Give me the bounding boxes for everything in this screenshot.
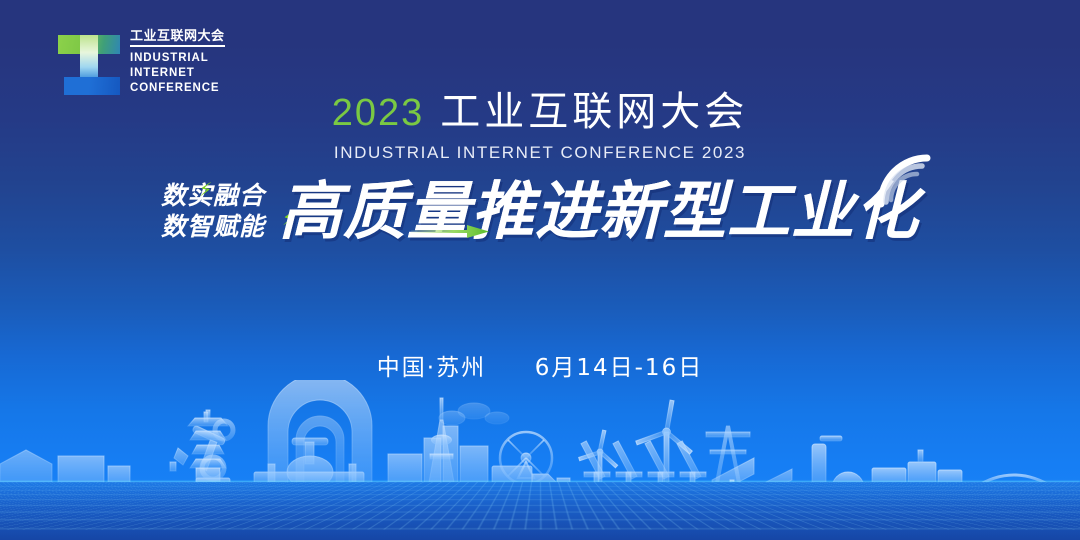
tv-tower-icon [428, 398, 455, 488]
event-dates: 6月14日-16日 [535, 355, 703, 381]
wifi-signal-icon [873, 150, 933, 208]
title-cn: 工业互联网大会 [440, 92, 748, 132]
perspective-grid-ground [0, 482, 1080, 540]
brand-lockup: 工业互联网大会 INDUSTRIAL INTERNET CONFERENCE [58, 30, 225, 97]
event-details: 中国·苏州 6月14日-16日 [0, 348, 1080, 382]
slogan-headline-text: 高质量推进新型工业化 [279, 175, 919, 248]
wind-turbine-icon [636, 400, 693, 488]
conference-t-mark-icon [58, 30, 120, 96]
brand-text: 工业互联网大会 INDUSTRIAL INTERNET CONFERENCE [130, 30, 225, 97]
brand-cn-name: 工业互联网大会 [130, 30, 225, 47]
slogan-block: 数实融合 数智赋能 ⚡ ⚡ 高质量推进新型工业化 [0, 180, 1080, 243]
conference-poster: 工业互联网大会 INDUSTRIAL INTERNET CONFERENCE 2… [0, 0, 1080, 540]
ferris-wheel-icon [500, 432, 552, 484]
pagoda-icon [188, 410, 228, 488]
skyline-scene [0, 380, 1080, 540]
brand-en-line2: INTERNET [130, 66, 225, 81]
gate-of-the-orient-icon [268, 380, 372, 488]
slogan-small-line1: 数实融合 [161, 182, 265, 210]
slogan-headline: 高质量推进新型工业化 [279, 180, 919, 243]
title-year: 2023 [332, 94, 425, 132]
brand-en-line1: INDUSTRIAL [130, 51, 225, 66]
slogan-small-group: 数实融合 数智赋能 ⚡ ⚡ [161, 182, 265, 241]
lightning-bolt-icon: ⚡ [199, 179, 212, 201]
slogan-small-line2: 数智赋能 [161, 213, 265, 241]
event-location: 中国·苏州 [377, 355, 486, 381]
